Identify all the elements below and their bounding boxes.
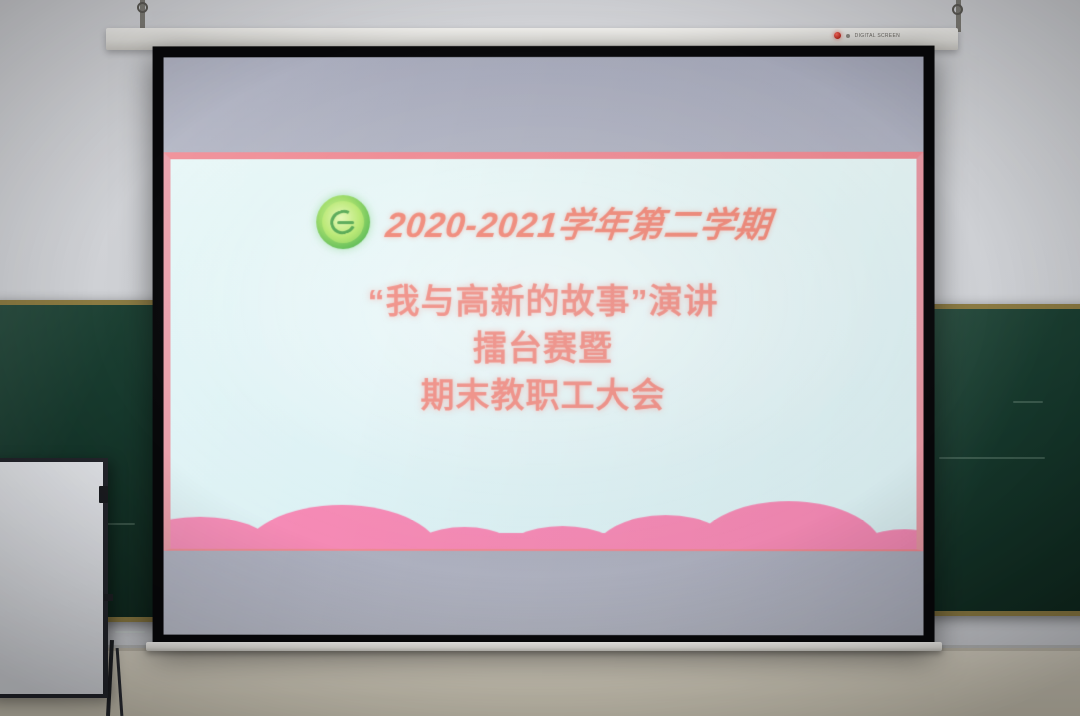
projection-screen-frame: 2020-2021学年第二学期 “我与高新的故事”演讲 擂台赛暨 期末教职工大会: [153, 46, 935, 647]
slide-decoration-hills: [171, 471, 917, 549]
letterbox-top: [164, 57, 924, 153]
whiteboard-clip: [99, 486, 108, 503]
presentation-slide: 2020-2021学年第二学期 “我与高新的故事”演讲 擂台赛暨 期末教职工大会: [164, 152, 924, 552]
classroom-scene: DIGITAL SCREEN 2020-2021学年第二学期: [0, 0, 1080, 716]
whiteboard-knob: [104, 594, 113, 601]
chalk-mark: [939, 457, 1045, 459]
power-led-icon: [834, 32, 841, 39]
blackboard-right: [926, 304, 1080, 616]
slide-line-2: 擂台赛暨: [171, 326, 917, 373]
slide-content: 2020-2021学年第二学期 “我与高新的故事”演讲 擂台赛暨 期末教职工大会: [171, 159, 917, 550]
casing-label-group: DIGITAL SCREEN: [834, 32, 900, 39]
blackboard-right-sheen: [931, 309, 1080, 611]
chalk-mark: [115, 631, 145, 633]
school-emblem-icon: [316, 195, 370, 249]
emblem-bar: [337, 221, 354, 224]
casing-dot-icon: [846, 34, 850, 38]
whiteboard: [0, 458, 108, 698]
slide-year-title: 2020-2021学年第二学期: [383, 196, 773, 247]
slide-body: “我与高新的故事”演讲 擂台赛暨 期末教职工大会: [171, 279, 917, 420]
chalk-mark: [1013, 401, 1043, 403]
casing-label-text: DIGITAL SCREEN: [855, 33, 900, 39]
screen-hook-left-icon: [137, 2, 148, 13]
slide-line-1: “我与高新的故事”演讲: [171, 279, 917, 326]
slide-line-3: 期末教职工大会: [171, 373, 917, 420]
wall-lower: [0, 648, 1080, 716]
slide-header: 2020-2021学年第二学期: [171, 195, 917, 249]
projection-screen-surface: 2020-2021学年第二学期 “我与高新的故事”演讲 擂台赛暨 期末教职工大会: [164, 57, 924, 636]
letterbox-bottom: [164, 551, 924, 636]
screen-weight-bar: [146, 642, 942, 651]
hills-shape: [171, 471, 917, 549]
screen-hook-right-icon: [952, 4, 963, 15]
